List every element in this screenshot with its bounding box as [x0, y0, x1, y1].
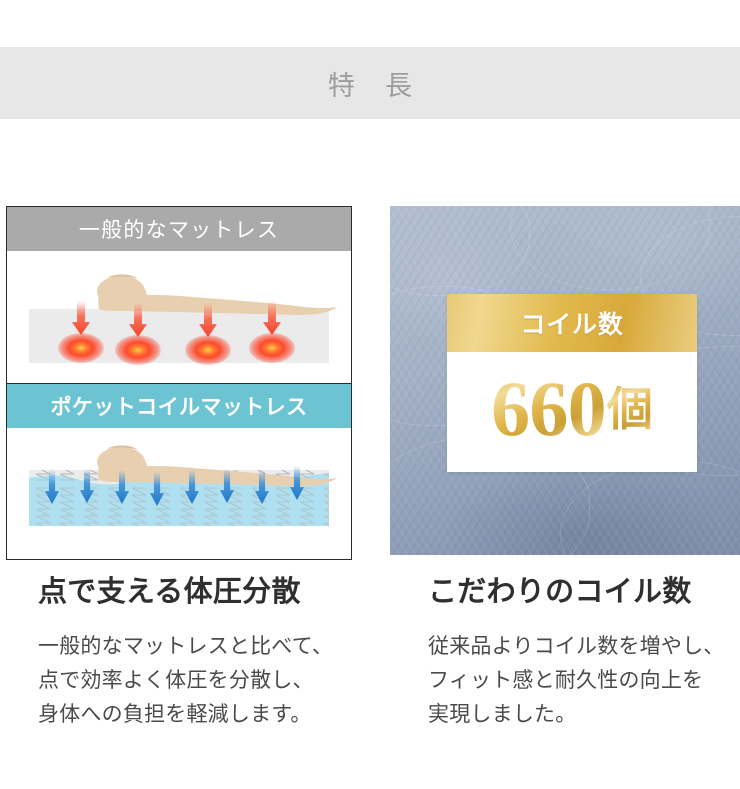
coil-count-badge-header: コイル数: [447, 294, 697, 352]
general-mattress-panel: 一般的なマットレス: [7, 207, 351, 383]
feature-description-line: フィット感と耐久性の向上を: [428, 664, 740, 698]
general-body-svg: [7, 251, 352, 383]
quilt-seam: [510, 206, 710, 290]
pressure-hotspot: [115, 335, 161, 365]
coil-count-badge-body: 660 個: [447, 352, 697, 472]
feature-description-line: 一般的なマットレスと比べて、: [38, 630, 368, 664]
pressure-hotspot: [58, 333, 104, 363]
feature-caption-left: 点で支える体圧分散 一般的なマットレスと比べて、 点で効率よく体圧を分散し、 身…: [38, 568, 368, 732]
mattress-photo: コイル数 660 個: [390, 206, 740, 555]
feature-description-line: 実現しました。: [428, 698, 740, 732]
coil-count-label: コイル数: [520, 305, 623, 341]
feature-description-line: 点で効率よく体圧を分散し、: [38, 664, 368, 698]
feature-caption-right: こだわりのコイル数 従来品よりコイル数を増やし、 フィット感と耐久性の向上を 実…: [428, 568, 740, 732]
pocket-coil-panel: ポケットコイルマットレス: [7, 383, 351, 559]
pocket-coil-title: ポケットコイルマットレス: [7, 384, 351, 428]
feature-description-line: 従来品よりコイル数を増やし、: [428, 630, 740, 664]
feature-description: 従来品よりコイル数を増やし、 フィット感と耐久性の向上を 実現しました。: [428, 630, 740, 732]
pocket-coil-illustration: [7, 428, 351, 560]
section-header-band: 特 長: [0, 47, 740, 119]
general-mattress-title: 一般的なマットレス: [7, 207, 351, 251]
feature-description-line: 身体への負担を軽減します。: [38, 698, 368, 732]
quilt-seam: [560, 461, 740, 555]
feature-description: 一般的なマットレスと比べて、 点で効率よく体圧を分散し、 身体への負担を軽減しま…: [38, 630, 368, 732]
coil-count-unit: 個: [607, 386, 653, 432]
general-mattress-illustration: [7, 251, 351, 383]
page-title: 特 長: [317, 64, 424, 103]
quilt-seam: [390, 206, 530, 296]
feature-section-page: 特 長 一般的なマットレス: [0, 0, 740, 789]
feature-title: 点で支える体圧分散: [38, 568, 368, 610]
pressure-hotspot: [185, 335, 231, 365]
feature-columns: 一般的なマットレス: [0, 206, 740, 586]
pressure-comparison-diagram: 一般的なマットレス: [6, 206, 352, 560]
pressure-hotspot: [249, 333, 295, 363]
coil-count-badge: コイル数 660 個: [447, 294, 697, 472]
feature-title: こだわりのコイル数: [428, 568, 740, 610]
coil-count-number: 660: [491, 370, 606, 448]
